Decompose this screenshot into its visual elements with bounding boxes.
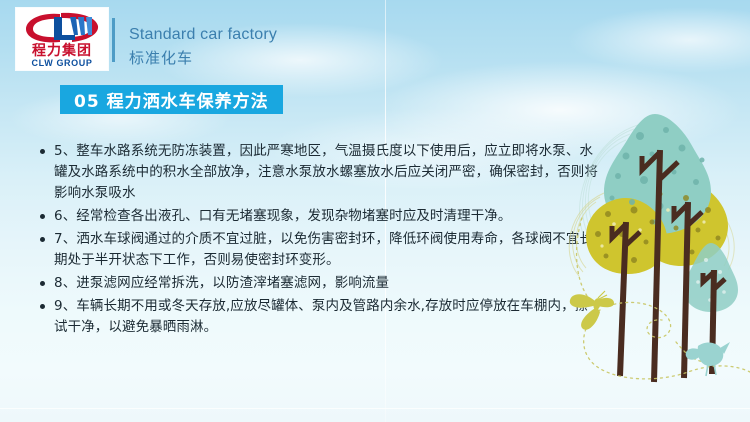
bullet-dot-icon xyxy=(40,149,45,154)
bullet-dot-icon xyxy=(40,214,45,219)
bottom-divider xyxy=(0,408,750,409)
list-item-text: 5、整车水路系统无防冻装置，因此严寒地区，气温摄氏度以下使用后，应立即将水泵、水… xyxy=(54,143,598,201)
header-tagline-cn: 标准化车 xyxy=(129,47,193,68)
bullet-dot-icon xyxy=(40,304,45,309)
clw-group-logo-icon xyxy=(20,11,104,45)
logo-company-name-en: CLW GROUP xyxy=(16,58,108,68)
header-tagline-en: Standard car factory xyxy=(129,26,277,44)
header-accent-rule xyxy=(112,18,115,62)
bullet-dot-icon xyxy=(40,281,45,286)
stylized-trees-illustration xyxy=(548,110,750,400)
company-logo: 程力集团 CLW GROUP xyxy=(16,8,108,70)
section-title-bar: 05 程力洒水车保养方法 xyxy=(60,85,283,114)
list-item: 5、整车水路系统无防冻装置，因此严寒地区，气温摄氏度以下使用后，应立即将水泵、水… xyxy=(38,141,598,204)
list-item: 9、车辆长期不用或冬天存放,应放尽罐体、泵内及管路内余水,存放时应停放在车棚内，… xyxy=(38,296,598,338)
slide: 程力集团 CLW GROUP Standard car factory 标准化车… xyxy=(0,0,750,422)
list-item-text: 6、经常检查各出液孔、口有无堵塞现象，发现杂物堵塞时应及时清理干净。 xyxy=(54,208,512,224)
maintenance-bullet-list: 5、整车水路系统无防冻装置，因此严寒地区，气温摄氏度以下使用后，应立即将水泵、水… xyxy=(38,141,598,340)
logo-company-name-cn: 程力集团 xyxy=(16,44,108,58)
bullet-dot-icon xyxy=(40,237,45,242)
list-item: 7、洒水车球阀通过的介质不宜过脏，以免伤害密封环，降低环阀使用寿命，各球阀不宜长… xyxy=(38,229,598,271)
list-item: 6、经常检查各出液孔、口有无堵塞现象，发现杂物堵塞时应及时清理干净。 xyxy=(38,206,598,227)
section-title-text: 05 程力洒水车保养方法 xyxy=(74,87,269,112)
list-item-text: 7、洒水车球阀通过的介质不宜过脏，以免伤害密封环，降低环阀使用寿命，各球阀不宜长… xyxy=(54,231,593,268)
list-item-text: 9、车辆长期不用或冬天存放,应放尽罐体、泵内及管路内余水,存放时应停放在车棚内，… xyxy=(54,298,588,335)
butterfly-icon xyxy=(570,291,614,330)
list-item-text: 8、进泵滤网应经常拆洗，以防渣滓堵塞滤网，影响流量 xyxy=(54,275,389,291)
list-item: 8、进泵滤网应经常拆洗，以防渣滓堵塞滤网，影响流量 xyxy=(38,273,598,294)
